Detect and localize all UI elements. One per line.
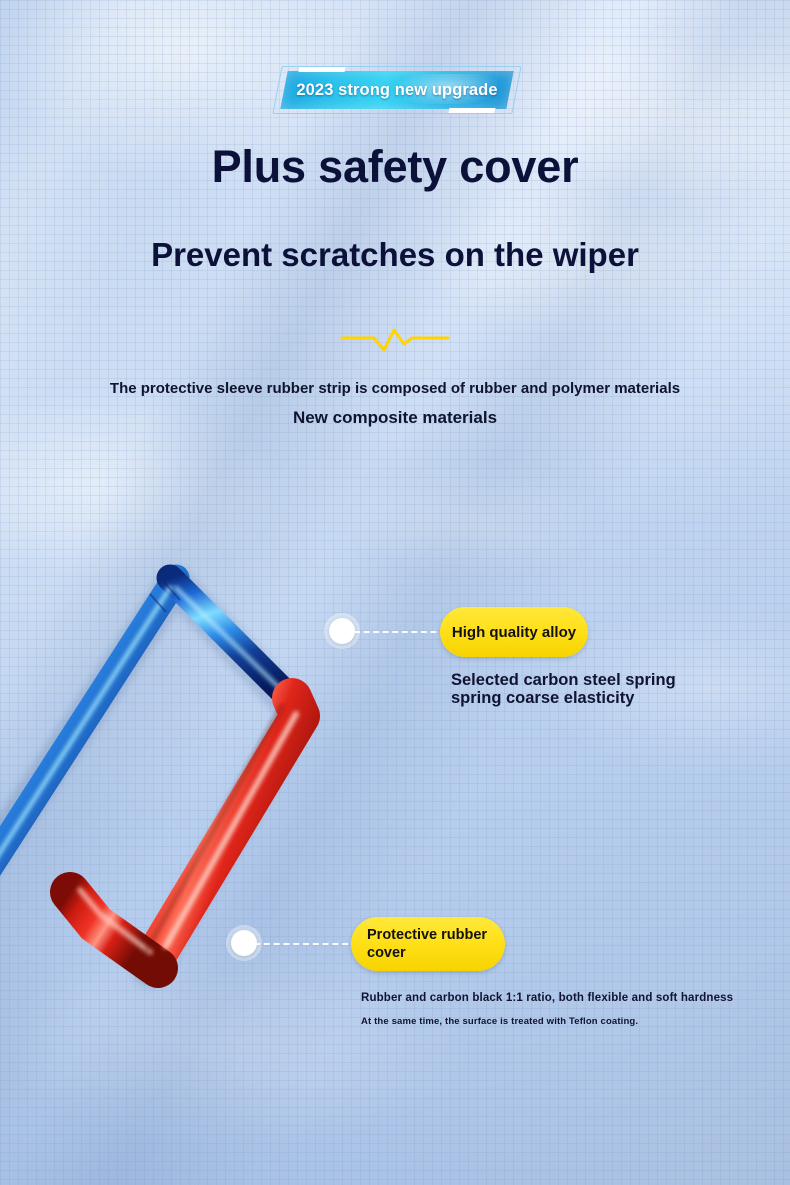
callout-note-alloy: Selected carbon steel spring spring coar… [451, 671, 676, 708]
callout-pill-alloy[interactable]: High quality alloy [440, 607, 588, 657]
body-line-1: The protective sleeve rubber strip is co… [0, 380, 790, 397]
upgrade-badge: 2023 strong new upgrade [277, 66, 517, 114]
zigzag-divider-icon [340, 326, 450, 356]
callout-note-rubber-line-2: At the same time, the surface is treated… [361, 1016, 638, 1027]
page-subtitle: Prevent scratches on the wiper [0, 236, 790, 274]
callout-pill-rubber[interactable]: Protective rubber cover [351, 917, 505, 971]
product-infographic-page: 2023 strong new upgrade Plus safety cove… [0, 0, 790, 1185]
page-title: Plus safety cover [0, 141, 790, 193]
badge-accent-bar-top-left [299, 67, 346, 72]
callout-note-rubber-line-1: Rubber and carbon black 1:1 ratio, both … [361, 992, 733, 1004]
badge-accent-bar-bottom-right [449, 108, 496, 113]
callout-dot-alloy [329, 618, 355, 644]
callout-pill-rubber-label: Protective rubber cover [367, 926, 505, 962]
callout-connector-alloy [354, 631, 446, 633]
callout-pill-alloy-label: High quality alloy [452, 624, 576, 641]
callout-connector-rubber [254, 943, 358, 945]
badge-label: 2023 strong new upgrade [277, 66, 517, 114]
body-line-2: New composite materials [0, 408, 790, 428]
